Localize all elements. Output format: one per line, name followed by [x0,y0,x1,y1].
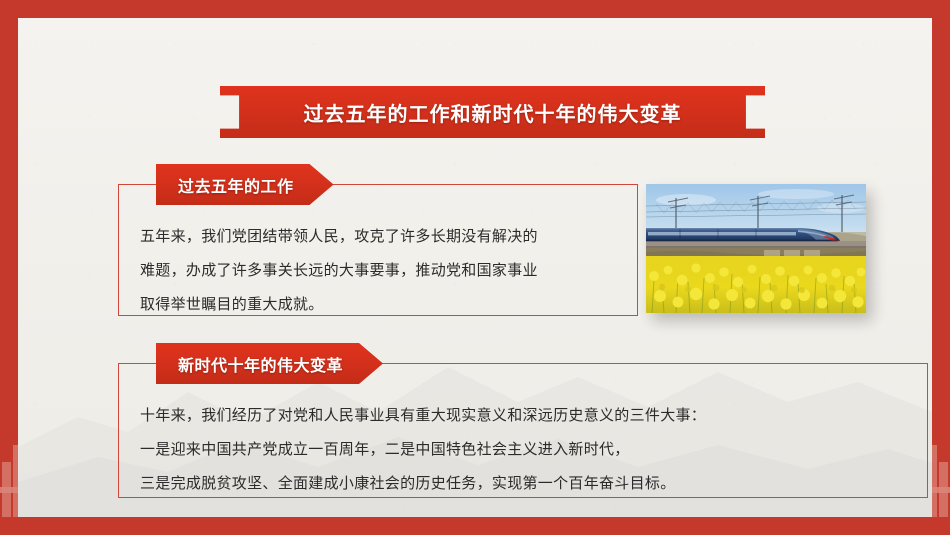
section-decade-transformation: 新时代十年的伟大变革 十年来，我们经历了对党和人民事业具有重大现实意义和深远历史… [118,343,928,498]
slide-root: 过去五年的工作和新时代十年的伟大变革 过去五年的工作 五年来，我们党团结带领人民… [0,0,950,535]
section-1-line-2: 难题，办成了许多事关长远的大事要事，推动党和国家事业 [140,254,616,288]
page-title-banner: 过去五年的工作和新时代十年的伟大变革 [220,86,765,138]
section-2-line-2: 一是迎来中国共产党成立一百周年，二是中国特色社会主义进入新时代， [140,433,906,467]
section-2-tab-label: 新时代十年的伟大变革 [178,352,343,376]
train-rapeseed-photo [646,184,866,313]
section-2-tab[interactable]: 新时代十年的伟大变革 [156,343,383,384]
section-2-line-3: 三是完成脱贫攻坚、全面建成小康社会的历史任务，实现第一个百年奋斗目标。 [140,467,906,501]
section-2-body: 十年来，我们经历了对党和人民事业具有重大现实意义和深远历史意义的三件大事： 一是… [140,399,906,501]
section-1-line-3: 取得举世瞩目的重大成就。 [140,288,616,322]
page-title: 过去五年的工作和新时代十年的伟大变革 [304,98,682,127]
section-1-line-1: 五年来，我们党团结带领人民，攻克了许多长期没有解决的 [140,220,616,254]
section-1-tab[interactable]: 过去五年的工作 [156,164,334,205]
section-1-tab-label: 过去五年的工作 [178,173,294,197]
section-past-five-years: 过去五年的工作 五年来，我们党团结带领人民，攻克了许多长期没有解决的 难题，办成… [118,164,638,316]
section-2-line-1: 十年来，我们经历了对党和人民事业具有重大现实意义和深远历史意义的三件大事： [140,399,906,433]
section-1-body: 五年来，我们党团结带领人民，攻克了许多长期没有解决的 难题，办成了许多事关长远的… [140,220,616,322]
slide-canvas: 过去五年的工作和新时代十年的伟大变革 过去五年的工作 五年来，我们党团结带领人民… [18,18,932,517]
